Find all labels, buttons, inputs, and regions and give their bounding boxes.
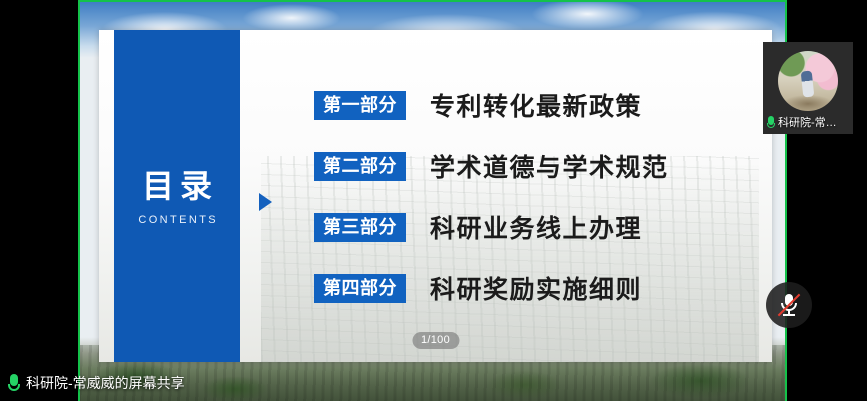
part-badge: 第四部分 <box>314 274 406 303</box>
play-triangle-icon <box>259 193 272 211</box>
meeting-screen: 目录 CONTENTS 第一部分 专利转化最新政策 第二部分 学术道德与学术规范… <box>0 0 867 401</box>
part-badge: 第三部分 <box>314 213 406 242</box>
microphone-green-icon <box>8 374 20 392</box>
shared-screen-region: 目录 CONTENTS 第一部分 专利转化最新政策 第二部分 学术道德与学术规范… <box>78 0 787 401</box>
contents-panel: 目录 CONTENTS <box>114 30 240 362</box>
panel-title: 目录 <box>114 170 240 202</box>
list-item[interactable]: 第二部分 学术道德与学术规范 <box>314 147 752 185</box>
part-title: 学术道德与学术规范 <box>430 148 669 184</box>
list-item[interactable]: 第三部分 科研业务线上办理 <box>314 208 752 246</box>
panel-subtitle: CONTENTS <box>114 214 240 226</box>
participant-label: 科研院-常… <box>767 114 850 130</box>
share-status-label: 科研院-常威威的屏幕共享 <box>26 373 185 393</box>
part-title: 科研奖励实施细则 <box>430 270 642 306</box>
contents-list: 第一部分 专利转化最新政策 第二部分 学术道德与学术规范 第三部分 科研业务线上… <box>314 86 752 307</box>
list-item[interactable]: 第一部分 专利转化最新政策 <box>314 86 752 124</box>
mute-microphone-button[interactable] <box>766 282 812 328</box>
page-indicator: 1/100 <box>412 332 459 349</box>
part-badge: 第一部分 <box>314 91 406 120</box>
list-item[interactable]: 第四部分 科研奖励实施细则 <box>314 269 752 307</box>
part-badge: 第二部分 <box>314 152 406 181</box>
microphone-green-icon <box>767 116 775 129</box>
participant-name: 科研院-常… <box>778 114 837 130</box>
participant-thumbnail[interactable]: 科研院-常… <box>763 42 853 134</box>
share-status-bar: 科研院-常威威的屏幕共享 <box>8 373 185 393</box>
part-title: 专利转化最新政策 <box>430 87 642 123</box>
avatar <box>778 51 838 111</box>
presentation-slide[interactable]: 目录 CONTENTS 第一部分 专利转化最新政策 第二部分 学术道德与学术规范… <box>99 30 772 362</box>
part-title: 科研业务线上办理 <box>430 209 642 245</box>
